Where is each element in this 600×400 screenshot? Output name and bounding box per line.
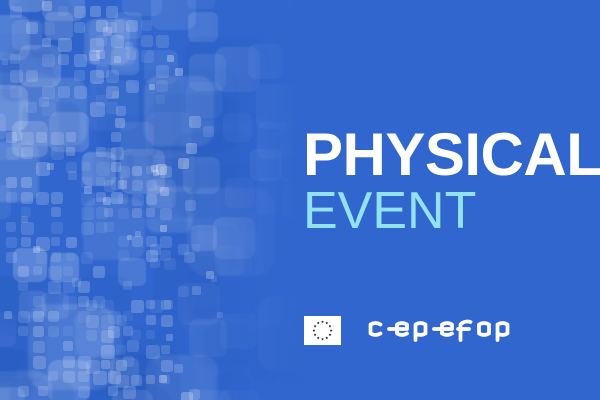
mosaic-square xyxy=(63,341,73,351)
mosaic-square xyxy=(192,286,201,295)
mosaic-square xyxy=(160,208,172,220)
mosaic-square xyxy=(104,180,116,192)
mosaic-square xyxy=(90,6,101,17)
mosaic-square xyxy=(63,371,75,383)
mosaic-square xyxy=(178,286,189,297)
mosaic-square xyxy=(185,200,196,211)
mosaic-square xyxy=(21,147,33,159)
mosaic-square xyxy=(112,91,119,98)
mosaic-square xyxy=(101,300,114,313)
mosaic-square xyxy=(74,70,85,81)
mosaic-square xyxy=(251,326,307,382)
mosaic-square xyxy=(21,177,32,188)
mosaic-square xyxy=(93,266,105,278)
eu-flag-icon xyxy=(304,316,341,345)
mosaic-square xyxy=(58,38,72,52)
mosaic-square xyxy=(132,194,144,206)
mosaic-square xyxy=(51,132,64,145)
mosaic-square xyxy=(132,208,142,218)
mosaic-square xyxy=(42,54,55,67)
mosaic-square xyxy=(63,326,73,336)
mosaic-square xyxy=(192,244,200,252)
mosaic-square xyxy=(118,166,130,178)
mosaic-square xyxy=(51,207,61,217)
mosaic-square xyxy=(21,132,34,145)
mosaic-square xyxy=(48,281,61,294)
mosaic-square xyxy=(214,373,248,400)
mosaic-square xyxy=(86,360,100,374)
mosaic-square xyxy=(293,287,310,314)
headline-block: PHYSICAL EVENT xyxy=(303,126,593,238)
mosaic-square xyxy=(161,345,170,354)
mosaic-square xyxy=(118,180,127,189)
mosaic-square xyxy=(131,375,142,386)
mosaic-square xyxy=(116,345,126,355)
mosaic-square xyxy=(126,50,136,60)
mosaic-square xyxy=(116,375,129,388)
mosaic-square xyxy=(58,54,69,65)
mosaic-square xyxy=(63,266,73,276)
mosaic-square xyxy=(132,236,143,247)
mosaic-square xyxy=(63,356,75,368)
mosaic-square xyxy=(174,364,183,373)
mosaic-square xyxy=(149,84,155,90)
mosaic-square xyxy=(132,166,142,176)
mosaic-square xyxy=(187,248,256,317)
mosaic-square xyxy=(26,22,38,34)
mosaic-square xyxy=(33,266,42,275)
mosaic-square xyxy=(126,20,138,32)
mosaic-square xyxy=(18,386,29,397)
mosaic-square xyxy=(33,311,44,322)
mosaic-square xyxy=(81,222,94,235)
mosaic-square xyxy=(10,54,20,64)
mosaic-square xyxy=(146,194,157,205)
mosaic-square xyxy=(48,311,59,322)
mosaic-square xyxy=(141,50,154,63)
mosaic-square xyxy=(21,192,33,204)
mosaic-square xyxy=(106,6,118,18)
mosaic-square xyxy=(111,132,121,142)
mosaic-square xyxy=(51,237,60,246)
mosaic-square xyxy=(63,296,77,310)
mosaic-square xyxy=(96,147,106,157)
mosaic-square xyxy=(72,278,81,287)
mosaic-square xyxy=(38,386,48,396)
mosaic-square xyxy=(47,163,54,170)
mosaic-square xyxy=(146,345,160,359)
mosaic-square xyxy=(160,187,169,196)
mosaic-square xyxy=(164,300,173,309)
mosaic-square xyxy=(18,311,30,323)
mosaic-square xyxy=(114,56,121,63)
mosaic-square xyxy=(141,20,152,31)
mosaic-square xyxy=(135,231,141,237)
mosaic-square xyxy=(116,315,127,326)
mosaic-square xyxy=(131,300,144,313)
headline-secondary: EVENT xyxy=(303,184,593,238)
mosaic-square xyxy=(18,281,28,291)
mosaic-square xyxy=(66,147,75,156)
mosaic-square xyxy=(156,35,169,48)
mosaic-square xyxy=(187,0,215,9)
mosaic-square xyxy=(161,315,173,327)
mosaic-square xyxy=(126,80,139,93)
mosaic-square xyxy=(6,252,17,263)
mosaic-square xyxy=(12,131,22,141)
mosaic-square xyxy=(36,192,49,205)
mosaic-square xyxy=(18,326,28,336)
mosaic-square xyxy=(111,20,124,33)
mosaic-square xyxy=(164,258,176,270)
mosaic-square xyxy=(74,22,85,33)
mosaic-square xyxy=(150,258,160,268)
mosaic-square xyxy=(58,6,68,16)
mosaic-square xyxy=(156,164,167,175)
mosaic-square xyxy=(6,177,17,188)
mosaic-square xyxy=(10,70,23,83)
mosaic-square xyxy=(33,296,44,307)
mosaic-square xyxy=(104,208,113,217)
mosaic-square xyxy=(150,300,163,313)
mosaic-square xyxy=(101,345,115,359)
mosaic-square xyxy=(166,334,173,341)
mosaic-square xyxy=(189,116,201,128)
mosaic-square xyxy=(4,311,12,319)
mosaic-square xyxy=(51,192,63,204)
mosaic-square xyxy=(131,330,141,340)
mosaic-square xyxy=(2,59,8,65)
mosaic-square xyxy=(26,70,38,82)
mosaic-square xyxy=(146,315,156,325)
mosaic-square xyxy=(217,312,223,318)
mosaic-square xyxy=(161,360,173,372)
mosaic-square xyxy=(101,315,115,329)
mosaic-square xyxy=(10,86,22,98)
mosaic-square xyxy=(81,162,90,171)
mosaic-square xyxy=(42,22,55,35)
mosaic-square xyxy=(106,148,116,158)
mosaic-square xyxy=(178,158,189,169)
mosaic-square xyxy=(42,1,52,11)
mosaic-square xyxy=(96,35,107,46)
mosaic-square xyxy=(42,38,51,47)
mosaic-square xyxy=(36,252,48,264)
mosaic-squares-pattern xyxy=(0,0,310,400)
mosaic-square xyxy=(58,86,70,98)
mosaic-square xyxy=(160,225,167,232)
mosaic-square xyxy=(66,237,77,248)
mosaic-square xyxy=(6,222,16,232)
mosaic-square xyxy=(156,80,168,92)
mosaic-square xyxy=(101,360,110,369)
mosaic-square xyxy=(123,281,132,290)
mosaic-square xyxy=(118,208,129,219)
mosaic-square xyxy=(184,37,268,121)
mosaic-square xyxy=(21,216,28,223)
mosaic-square xyxy=(86,315,99,328)
mosaic-square xyxy=(181,392,193,400)
mosaic-square xyxy=(48,371,58,381)
mosaic-square xyxy=(51,252,61,262)
mosaic-square xyxy=(104,222,114,232)
mosaic-square xyxy=(96,65,109,78)
mosaic-square xyxy=(103,27,112,36)
mosaic-square xyxy=(6,147,19,160)
mosaic-square xyxy=(89,50,100,61)
mosaic-square xyxy=(111,35,124,48)
mosaic-square xyxy=(74,54,87,67)
mosaic-square xyxy=(103,197,111,205)
mosaic-square xyxy=(146,330,155,339)
mosaic-square xyxy=(66,132,76,142)
mosaic-square xyxy=(86,300,97,311)
mosaic-square xyxy=(51,222,63,234)
mosaic-square xyxy=(33,246,40,253)
mosaic-square xyxy=(159,375,167,383)
mosaic-square xyxy=(118,250,129,261)
mosaic-square xyxy=(127,235,132,240)
mosaic-square xyxy=(184,252,195,263)
cedefop-wordmark: CEDEFOP xyxy=(360,318,520,344)
mosaic-square xyxy=(74,86,87,99)
mosaic-square xyxy=(48,266,62,280)
mosaic-square xyxy=(39,97,49,107)
mosaic-square xyxy=(146,375,155,384)
mosaic-square xyxy=(48,326,59,337)
mosaic-square xyxy=(33,326,44,337)
mosaic-square xyxy=(33,356,46,369)
mosaic-square xyxy=(33,341,45,353)
mosaic-square xyxy=(288,0,310,13)
mosaic-square xyxy=(74,6,86,18)
mosaic-square xyxy=(81,207,94,220)
event-banner: PHYSICAL EVENT CEDEFOP xyxy=(0,0,600,400)
headline-primary: PHYSICAL xyxy=(303,126,593,184)
mosaic-square xyxy=(66,252,75,261)
mosaic-square xyxy=(101,330,114,343)
mosaic-square xyxy=(6,192,17,203)
mosaic-square xyxy=(203,126,214,137)
mosaic-square xyxy=(78,386,90,398)
mosaic-square xyxy=(167,55,174,62)
mosaic-square xyxy=(204,325,250,371)
mosaic-square xyxy=(51,147,64,160)
mosaic-square xyxy=(96,95,107,106)
mosaic-square xyxy=(118,194,128,204)
mosaic-square xyxy=(86,330,97,341)
mosaic-square xyxy=(81,252,93,264)
mosaic-square xyxy=(146,180,157,191)
mosaic-square xyxy=(116,106,126,116)
mosaic-square xyxy=(116,360,127,371)
mosaic-square xyxy=(127,340,139,352)
mosaic-square xyxy=(36,132,47,143)
cedefop-logo: CEDEFOP xyxy=(304,316,520,345)
mosaic-square xyxy=(18,266,29,277)
mosaic-square xyxy=(125,42,133,50)
mosaic-square xyxy=(21,222,34,235)
mosaic-square xyxy=(132,180,143,191)
mosaic-square xyxy=(186,143,197,154)
mosaic-square xyxy=(81,192,95,206)
mosaic-square xyxy=(115,118,125,128)
mosaic-square xyxy=(21,237,31,247)
mosaic-square xyxy=(156,65,169,78)
mosaic-square xyxy=(26,102,37,113)
mosaic-square xyxy=(10,6,22,18)
mosaic-square xyxy=(156,95,165,104)
mosaic-square xyxy=(150,244,161,255)
mosaic-square xyxy=(146,208,155,217)
mosaic-square xyxy=(96,162,110,176)
mosaic-square xyxy=(160,236,172,248)
mosaic-square xyxy=(206,271,214,279)
mosaic-square xyxy=(84,186,92,194)
mosaic-square xyxy=(141,35,153,47)
mosaic-square xyxy=(175,68,183,76)
mosaic-square xyxy=(68,171,77,180)
mosaic-square xyxy=(6,237,17,248)
